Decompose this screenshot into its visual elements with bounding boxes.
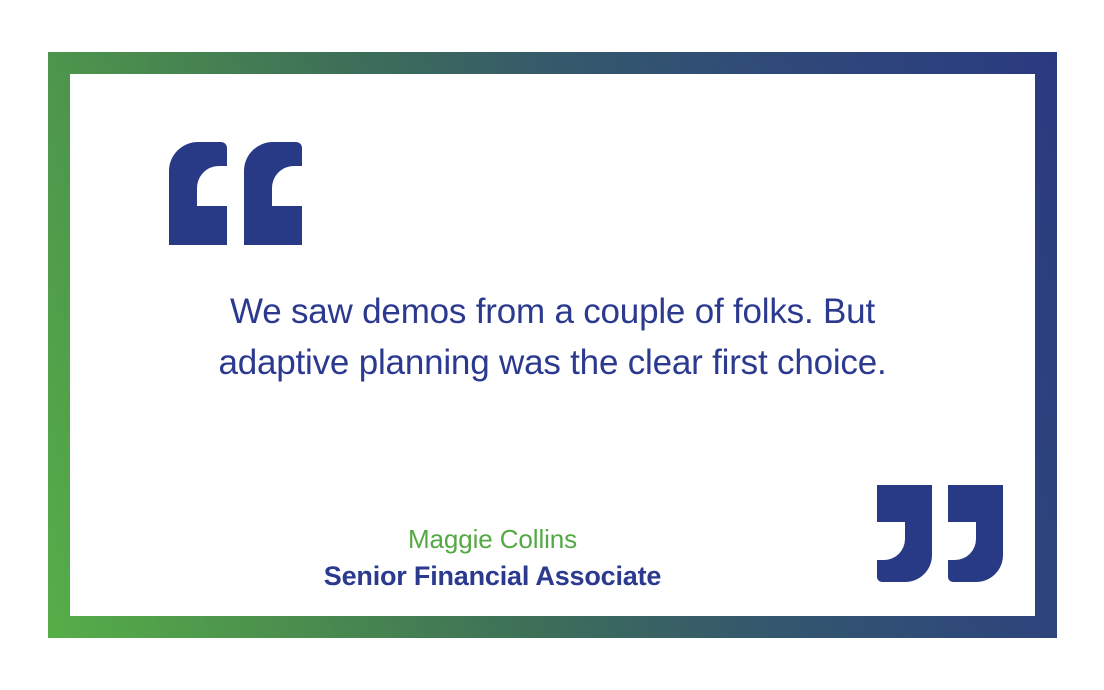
- closing-quote-icon: [877, 485, 1003, 582]
- closing-quote-glyph-right: [877, 485, 932, 582]
- closing-quote-glyph-left: [948, 485, 1003, 582]
- testimonial-card: We saw demos from a couple of folks. But…: [48, 52, 1057, 638]
- quote-text: We saw demos from a couple of folks. But…: [190, 286, 915, 388]
- author-role: Senior Financial Associate: [190, 558, 795, 594]
- opening-quote-icon: [169, 142, 302, 245]
- opening-quote-glyph-right: [244, 142, 302, 245]
- author-name: Maggie Collins: [190, 522, 795, 556]
- opening-quote-glyph-left: [169, 142, 227, 245]
- card-inner-surface: We saw demos from a couple of folks. But…: [70, 74, 1035, 616]
- attribution: Maggie Collins Senior Financial Associat…: [190, 522, 795, 594]
